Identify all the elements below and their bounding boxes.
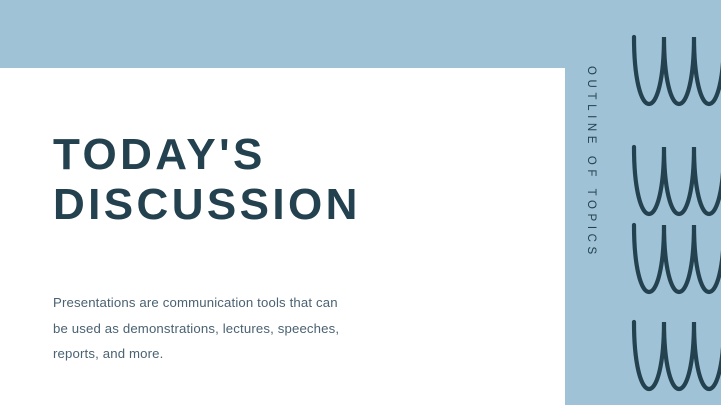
page-title: Today's Discussion	[53, 130, 523, 230]
section-label-vertical: Outline of Topics	[585, 66, 597, 259]
content-panel: Today's Discussion Presentations are com…	[0, 68, 565, 405]
body-paragraph: Presentations are communication tools th…	[53, 290, 353, 367]
presentation-slide: Today's Discussion Presentations are com…	[0, 0, 721, 405]
side-panel: Outline of Topics	[565, 0, 721, 405]
